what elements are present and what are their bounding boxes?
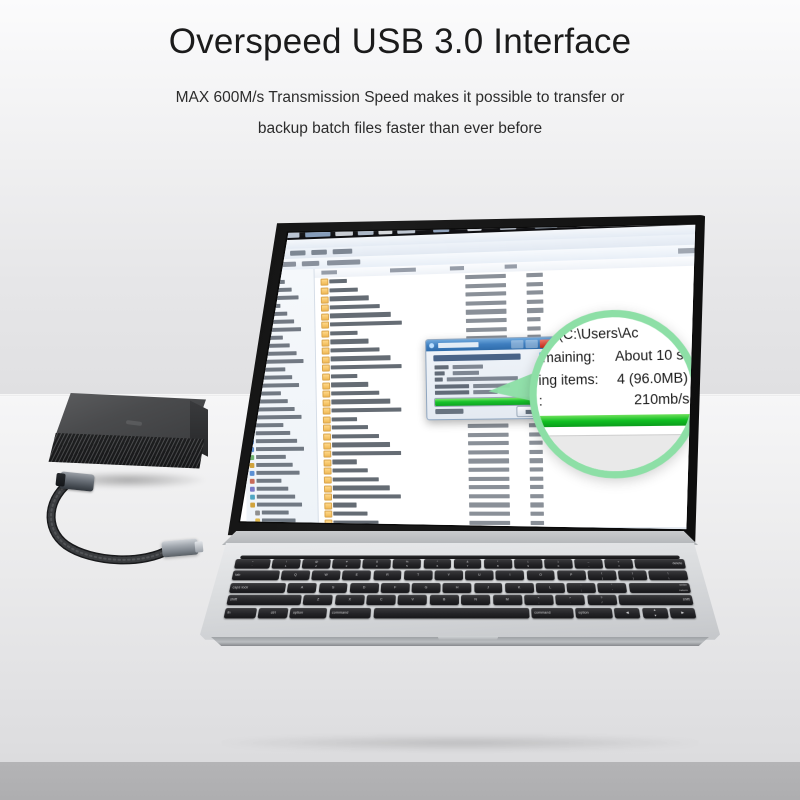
- file-name-cell: [330, 347, 379, 352]
- keyboard-key[interactable]: ▲▼: [642, 608, 669, 619]
- keyboard-key[interactable]: (9: [514, 559, 542, 569]
- keyboard-key[interactable]: U: [465, 571, 493, 581]
- folder-icon: [323, 416, 331, 423]
- sidebar-item-label: [256, 455, 286, 459]
- file-type-cell: [526, 273, 543, 278]
- dialog-to-label: [435, 371, 445, 375]
- file-date-cell: [466, 327, 507, 332]
- folder-icon: [324, 511, 332, 518]
- keyboard-key[interactable]: L: [536, 583, 565, 593]
- sidebar-item-icon: [250, 486, 255, 491]
- file-name-cell: [330, 321, 402, 327]
- folder-icon: [324, 468, 332, 475]
- dialog-title-text: [438, 342, 478, 347]
- file-name-cell: [330, 312, 391, 318]
- dialog-from-value: [453, 364, 483, 369]
- folder-icon: [324, 459, 332, 466]
- file-name-cell: [331, 399, 390, 404]
- sidebar-item-label: [255, 415, 301, 420]
- sidebar-item-label: [256, 423, 284, 427]
- keyboard-key[interactable]: V: [398, 595, 427, 605]
- file-name-cell: [332, 442, 390, 447]
- usb-cable: [40, 445, 240, 595]
- keyboard-key[interactable]: Y: [435, 571, 463, 581]
- callout-path: (C:\Users\Ac: [558, 325, 638, 342]
- file-date-cell: [468, 468, 509, 472]
- callout-progress-bar: [528, 411, 701, 430]
- keyboard-key[interactable]: H: [443, 583, 472, 593]
- keyboard-key[interactable]: W: [311, 571, 340, 581]
- file-name-cell: [332, 451, 401, 456]
- dialog-from-label: [434, 365, 448, 369]
- keyboard-key[interactable]: {[: [587, 571, 617, 581]
- sidebar-item-label: [256, 431, 291, 436]
- sidebar-item-icon: [246, 273, 251, 278]
- folder-icon: [322, 391, 330, 398]
- file-name-cell: [330, 330, 357, 335]
- folder-icon: [323, 442, 331, 449]
- sidebar-item-label: [257, 487, 289, 491]
- keyboard-key[interactable]: >.: [555, 595, 585, 605]
- dialog-items-label: [435, 390, 469, 395]
- keyboard-key[interactable]: &7: [454, 559, 482, 569]
- sidebar-item-label: [254, 319, 294, 324]
- file-name-cell: [331, 390, 379, 395]
- keyboard-key[interactable]: A: [287, 583, 317, 593]
- trackpad[interactable]: [348, 639, 574, 715]
- keyboard-key[interactable]: command: [329, 608, 372, 619]
- file-date-cell: [469, 503, 510, 507]
- file-name-cell: [332, 468, 367, 473]
- folder-icon: [323, 425, 331, 432]
- sidebar-item-icon: [250, 463, 255, 468]
- file-name-cell: [333, 486, 390, 491]
- file-date-cell: [466, 300, 507, 305]
- file-date-cell: [465, 274, 506, 280]
- folder-icon: [323, 451, 331, 458]
- file-name-cell: [330, 295, 369, 301]
- callout-time-label: maining:: [542, 349, 595, 366]
- callout-content: (C:\Users\Ac maining: About 10 s ing ite…: [528, 308, 701, 479]
- file-type-cell: [531, 521, 544, 525]
- keyboard-key[interactable]: S: [318, 583, 348, 593]
- keyboard-key[interactable]: [373, 608, 530, 619]
- file-date-cell: [469, 476, 510, 480]
- sidebar-item-label: [262, 511, 289, 515]
- laptop: (C:\Users\Ac maining: About 10 s ing ite…: [200, 215, 720, 745]
- sidebar-item-icon: [250, 470, 255, 475]
- usb-connector-drive-end: [59, 471, 95, 491]
- sidebar-item-icon: [246, 280, 251, 285]
- keyboard-row-3[interactable]: caps lockASDFGHJKL:;"'enterreturn: [229, 583, 691, 593]
- subtitle-line-1: MAX 600M/s Transmission Speed makes it p…: [50, 82, 750, 113]
- magnifier-callout: (C:\Users\Ac maining: About 10 s ing ite…: [528, 308, 686, 464]
- folder-icon: [322, 339, 330, 346]
- sidebar-item[interactable]: [246, 477, 317, 485]
- keyboard-key[interactable]: K: [505, 583, 534, 593]
- scrollbar-thumb[interactable]: [705, 265, 710, 314]
- laptop-screen: (C:\Users\Ac maining: About 10 s ing ite…: [218, 215, 710, 545]
- file-type-cell: [527, 299, 544, 304]
- keyboard-key[interactable]: Z: [303, 595, 333, 605]
- keyboard-key[interactable]: !1: [271, 559, 300, 569]
- folder-icon: [321, 279, 329, 286]
- keyboard-key[interactable]: %5: [393, 559, 421, 569]
- sidebar-item-label: [256, 479, 281, 483]
- keyboard-key[interactable]: E: [342, 571, 371, 581]
- keyboard-key[interactable]: <,: [524, 595, 554, 605]
- file-name-cell: [332, 417, 357, 422]
- file-date-cell: [468, 432, 509, 437]
- keyboard-key[interactable]: D: [349, 583, 378, 593]
- sidebar-item-label: [256, 463, 293, 467]
- keyboard-row-4[interactable]: shiftZXCVBNM<,>.?/shift: [226, 595, 693, 605]
- keyboard-key[interactable]: O: [526, 571, 555, 581]
- sidebar-item-label: [257, 503, 302, 507]
- keyboard-key[interactable]: ^6: [423, 559, 451, 569]
- table-row[interactable]: [318, 492, 710, 501]
- keyboard-key[interactable]: "': [597, 583, 627, 593]
- folder-icon: [323, 434, 331, 441]
- folder-icon: [321, 330, 329, 337]
- file-type-cell: [530, 485, 543, 489]
- sidebar-item-icon: [255, 510, 260, 515]
- file-name-cell: [333, 477, 379, 482]
- folder-icon: [321, 296, 329, 303]
- keyboard-key[interactable]: command: [531, 608, 573, 619]
- sidebar-item-label: [256, 471, 299, 475]
- sidebar-item-icon: [247, 336, 252, 341]
- keyboard-key[interactable]: F: [381, 583, 410, 593]
- hdd-logo: [126, 420, 142, 426]
- usb-connector-free-end: [161, 538, 198, 557]
- file-name-cell: [333, 494, 401, 499]
- file-name-cell: [333, 512, 367, 516]
- keyboard-key[interactable]: fn: [224, 608, 258, 619]
- folder-icon: [322, 373, 330, 380]
- file-name-cell: [332, 460, 357, 465]
- file-type-cell: [530, 512, 543, 516]
- sidebar-item[interactable]: [246, 493, 317, 501]
- sidebar-item-icon: [247, 312, 252, 317]
- file-date-cell: [466, 309, 507, 314]
- keyboard-key[interactable]: :;: [566, 583, 596, 593]
- connector-tip: [194, 541, 203, 553]
- file-name-cell: [331, 364, 402, 370]
- keyboard-row-1[interactable]: ~`!1@2#3$4%5^6&7*8(9)0_-+=delete: [234, 559, 686, 569]
- sidebar-item-icon: [248, 360, 253, 365]
- keyboard-key[interactable]: +=: [604, 559, 633, 569]
- background-floor-band: [0, 762, 800, 800]
- sidebar-item-icon: [247, 296, 252, 301]
- more-details-button[interactable]: [435, 409, 463, 414]
- dialog-heading: [433, 353, 520, 361]
- keyboard-key[interactable]: T: [404, 571, 433, 581]
- keyboard-key[interactable]: ?/: [587, 595, 617, 605]
- keyboard-key[interactable]: B: [430, 595, 459, 605]
- keyboard-key[interactable]: R: [373, 571, 402, 581]
- table-row[interactable]: [318, 501, 710, 510]
- sidebar-item-label: [255, 407, 294, 412]
- file-date-cell: [465, 291, 506, 296]
- headline: Overspeed USB 3.0 Interface: [0, 22, 800, 62]
- sidebar-item-icon: [250, 478, 255, 483]
- sidebar-item-icon: [247, 288, 252, 293]
- file-date-cell: [468, 459, 509, 464]
- laptop-shadow: [210, 735, 710, 751]
- keyboard[interactable]: ~`!1@2#3$4%5^6&7*8(9)0_-+=delete tabQWER…: [221, 559, 698, 629]
- folder-icon: [322, 356, 330, 363]
- file-type-cell: [530, 503, 543, 507]
- keyboard-key[interactable]: G: [412, 583, 441, 593]
- file-name-cell: [330, 339, 368, 344]
- keyboard-key[interactable]: shift: [226, 595, 302, 605]
- callout-items-value: 4 (96.0MB): [617, 370, 688, 387]
- callout-speed-label: :: [539, 393, 543, 409]
- hinge-bar: [222, 531, 698, 545]
- keyboard-key[interactable]: enterreturn: [628, 583, 691, 593]
- folder-icon: [321, 322, 329, 329]
- keyboard-key[interactable]: )0: [544, 559, 573, 569]
- keyboard-key[interactable]: Q: [280, 571, 310, 581]
- file-name-cell: [333, 503, 357, 507]
- folder-icon: [324, 494, 332, 501]
- keyboard-key[interactable]: |\: [648, 571, 688, 581]
- dialog-time-label: [435, 384, 469, 389]
- keyboard-key[interactable]: P: [557, 571, 586, 581]
- sidebar-item-icon: [247, 320, 252, 325]
- folder-icon: [323, 399, 331, 406]
- file-name-cell: [329, 279, 347, 284]
- filelist-scrollbar[interactable]: [704, 265, 710, 528]
- file-name-cell: [331, 373, 357, 378]
- file-type-cell: [530, 476, 543, 480]
- folder-icon: [324, 477, 332, 484]
- keyboard-key[interactable]: N: [461, 595, 490, 605]
- product-marketing-image: Overspeed USB 3.0 Interface MAX 600M/s T…: [0, 0, 800, 800]
- dialog-to-value: [453, 371, 479, 376]
- keyboard-key[interactable]: shift: [618, 595, 694, 605]
- folder-icon: [321, 287, 329, 294]
- sidebar-item[interactable]: [246, 501, 317, 509]
- keyboard-key[interactable]: M: [493, 595, 522, 605]
- subtitle-line-2: backup batch files faster than ever befo…: [50, 113, 750, 144]
- sidebar-item-icon: [250, 502, 255, 507]
- keyboard-key[interactable]: #3: [332, 559, 361, 569]
- sidebar-item-label: [256, 447, 304, 452]
- dialog-name-value: [447, 376, 518, 381]
- sidebar-item-label: [256, 439, 297, 444]
- keyboard-row-5[interactable]: fnctrloptioncommandcommandoption◀▲▼▶: [224, 608, 697, 619]
- file-name-cell: [331, 382, 368, 387]
- screen-content: (C:\Users\Ac maining: About 10 s ing ite…: [242, 215, 710, 539]
- keyboard-key[interactable]: @2: [302, 559, 331, 569]
- file-name-cell: [331, 407, 401, 412]
- sidebar-item-icon: [248, 375, 253, 380]
- sidebar-item-icon: [250, 494, 255, 499]
- folder-icon: [322, 382, 330, 389]
- folder-icon: [321, 305, 329, 312]
- sidebar-item-icon: [247, 328, 252, 333]
- folder-icon: [322, 365, 330, 372]
- file-type-cell: [530, 494, 543, 498]
- keyboard-key[interactable]: *8: [484, 559, 512, 569]
- keyboard-key[interactable]: X: [335, 595, 365, 605]
- keyboard-key[interactable]: J: [474, 583, 503, 593]
- file-date-cell: [468, 450, 509, 455]
- file-date-cell: [466, 318, 507, 323]
- folder-icon: [322, 348, 330, 355]
- file-date-cell: [469, 494, 510, 498]
- folder-icon: [324, 485, 332, 492]
- folder-icon: [321, 313, 329, 320]
- laptop-base: ~`!1@2#3$4%5^6&7*8(9)0_-+=delete tabQWER…: [200, 531, 720, 651]
- folder-icon: [323, 408, 331, 415]
- keyboard-key[interactable]: C: [366, 595, 396, 605]
- lid-notch: [438, 636, 498, 640]
- keyboard-key[interactable]: ctrl: [258, 608, 289, 619]
- subtitle: MAX 600M/s Transmission Speed makes it p…: [50, 82, 750, 144]
- file-date-cell: [469, 512, 510, 516]
- file-date-cell: [468, 441, 509, 446]
- folder-icon: [324, 502, 332, 509]
- file-name-cell: [332, 434, 379, 439]
- file-name-cell: [330, 304, 380, 310]
- callout-time-value: About 10 s: [615, 347, 684, 364]
- keyboard-key[interactable]: I: [496, 571, 525, 581]
- sidebar-item-icon: [248, 352, 253, 357]
- file-date-cell: [469, 485, 510, 489]
- file-date-cell: [465, 283, 506, 289]
- callout-circle: (C:\Users\Ac maining: About 10 s ing ite…: [528, 308, 701, 479]
- file-name-cell: [331, 356, 391, 362]
- sidebar-item-icon: [248, 367, 253, 372]
- keyboard-key[interactable]: $4: [363, 559, 392, 569]
- file-name-cell: [332, 425, 368, 430]
- sidebar-item[interactable]: [246, 485, 317, 493]
- sidebar-item-icon: [248, 344, 253, 349]
- dialog-name-label: [435, 377, 443, 381]
- keyboard-key[interactable]: _-: [574, 559, 603, 569]
- file-type-cell: [526, 282, 543, 287]
- callout-items-label: ing items:: [538, 372, 598, 389]
- keyboard-key[interactable]: option: [289, 608, 327, 619]
- file-name-cell: [329, 287, 357, 292]
- minimize-button[interactable]: [511, 340, 523, 348]
- keyboard-key[interactable]: }]: [618, 571, 648, 581]
- file-date-cell: [468, 424, 509, 429]
- keyboard-key[interactable]: option: [575, 608, 613, 619]
- external-hard-drive: [40, 385, 240, 595]
- file-type-cell: [527, 290, 544, 295]
- sidebar-item-label: [257, 495, 295, 499]
- sidebar-item-icon: [247, 304, 252, 309]
- copy-icon: [429, 343, 434, 348]
- file-date-cell: [469, 520, 510, 524]
- keyboard-deck: ~`!1@2#3$4%5^6&7*8(9)0_-+=delete tabQWER…: [200, 543, 720, 647]
- keyboard-key[interactable]: ▶: [669, 608, 696, 619]
- keyboard-key[interactable]: delete: [634, 559, 686, 569]
- connector-cap: [55, 473, 65, 487]
- sidebar-item[interactable]: [247, 509, 318, 517]
- keyboard-key[interactable]: ◀: [614, 608, 641, 619]
- keyboard-row-2[interactable]: tabQWERTYUIOP{[}]|\: [232, 571, 689, 581]
